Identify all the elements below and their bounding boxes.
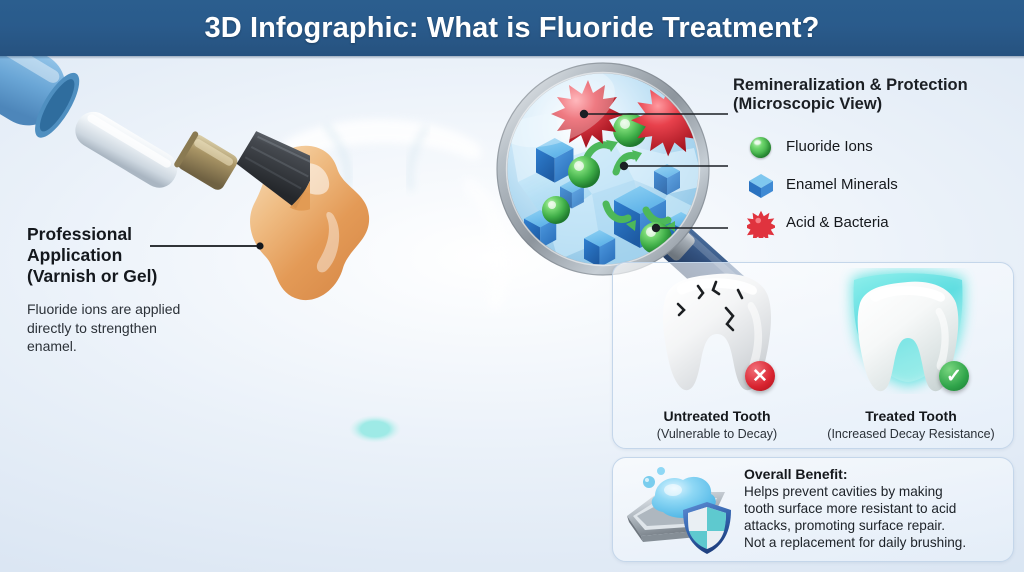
callout-body-line1: Fluoride ions are applied [27, 300, 262, 319]
legend-title-line1: Remineralization & Protection [733, 76, 1021, 95]
blue-cube-icon [746, 170, 776, 200]
red-spike-icon [746, 208, 776, 238]
untreated-tooth-label: Untreated Tooth [617, 408, 817, 424]
untreated-tooth-image [617, 269, 817, 394]
legend-label-fluoride-ions: Fluoride Ions [786, 138, 873, 155]
page-title: 3D Infographic: What is Fluoride Treatme… [0, 0, 1024, 56]
treated-tooth-label: Treated Tooth [811, 408, 1011, 424]
green-sphere-icon [746, 132, 776, 162]
legend-title-line2: (Microscopic View) [733, 95, 1021, 114]
legend-label-enamel-minerals: Enamel Minerals [786, 176, 898, 193]
infographic-canvas: Remineralization & Protection (Microscop… [0, 0, 1024, 572]
treated-tooth-subtitle: (Increased Decay Resistance) [811, 427, 1011, 441]
overall-benefit-title: Overall Benefit: [744, 466, 1006, 482]
treated-tooth-image [811, 269, 1011, 394]
callout-body: Fluoride ions are applied directly to st… [27, 300, 262, 356]
untreated-tooth-subtitle: (Vulnerable to Decay) [617, 427, 817, 441]
overall-benefit-panel: Overall Benefit: Helps prevent cavities … [612, 457, 1014, 562]
professional-application-callout: Professional Application (Varnish or Gel… [27, 224, 262, 356]
callout-body-line3: enamel. [27, 337, 262, 356]
benefit-line-4: Not a replacement for daily brushing. [744, 534, 1006, 551]
callout-body-line2: directly to strengthen [27, 319, 262, 338]
foam-tray-shield-icon [621, 466, 741, 554]
callout-title-line2: Application [27, 245, 262, 266]
callout-title-line3: (Varnish or Gel) [27, 266, 262, 287]
tooth-comparison-panel: ✕ Untreated Tooth (Vulnerable to Decay) [612, 262, 1014, 449]
untreated-tooth-card[interactable]: ✕ Untreated Tooth (Vulnerable to Decay) [617, 263, 817, 448]
legend-label-acid-bacteria: Acid & Bacteria [786, 214, 889, 231]
treated-tooth-card[interactable]: ✓ Treated Tooth (Increased Decay Resista… [811, 263, 1011, 448]
callout-title: Professional Application (Varnish or Gel… [27, 224, 262, 287]
benefit-line-3: attacks, promoting surface repair. [744, 517, 1006, 534]
legend-item-fluoride-ions[interactable]: Fluoride Ions [746, 128, 1021, 166]
benefit-line-1: Helps prevent cavities by making [744, 483, 1006, 500]
overall-benefit-text: Overall Benefit: Helps prevent cavities … [744, 466, 1006, 551]
status-badge-treated: ✓ [939, 361, 969, 391]
legend-item-enamel-minerals[interactable]: Enamel Minerals [746, 166, 1021, 204]
status-badge-untreated: ✕ [745, 361, 775, 391]
legend-item-acid-bacteria[interactable]: Acid & Bacteria [746, 204, 1021, 242]
title-banner: 3D Infographic: What is Fluoride Treatme… [0, 0, 1024, 56]
legend-title: Remineralization & Protection (Microscop… [733, 76, 1021, 115]
benefit-line-2: tooth surface more resistant to acid [744, 500, 1006, 517]
legend-panel: Remineralization & Protection (Microscop… [733, 76, 1021, 242]
callout-title-line1: Professional [27, 224, 262, 245]
